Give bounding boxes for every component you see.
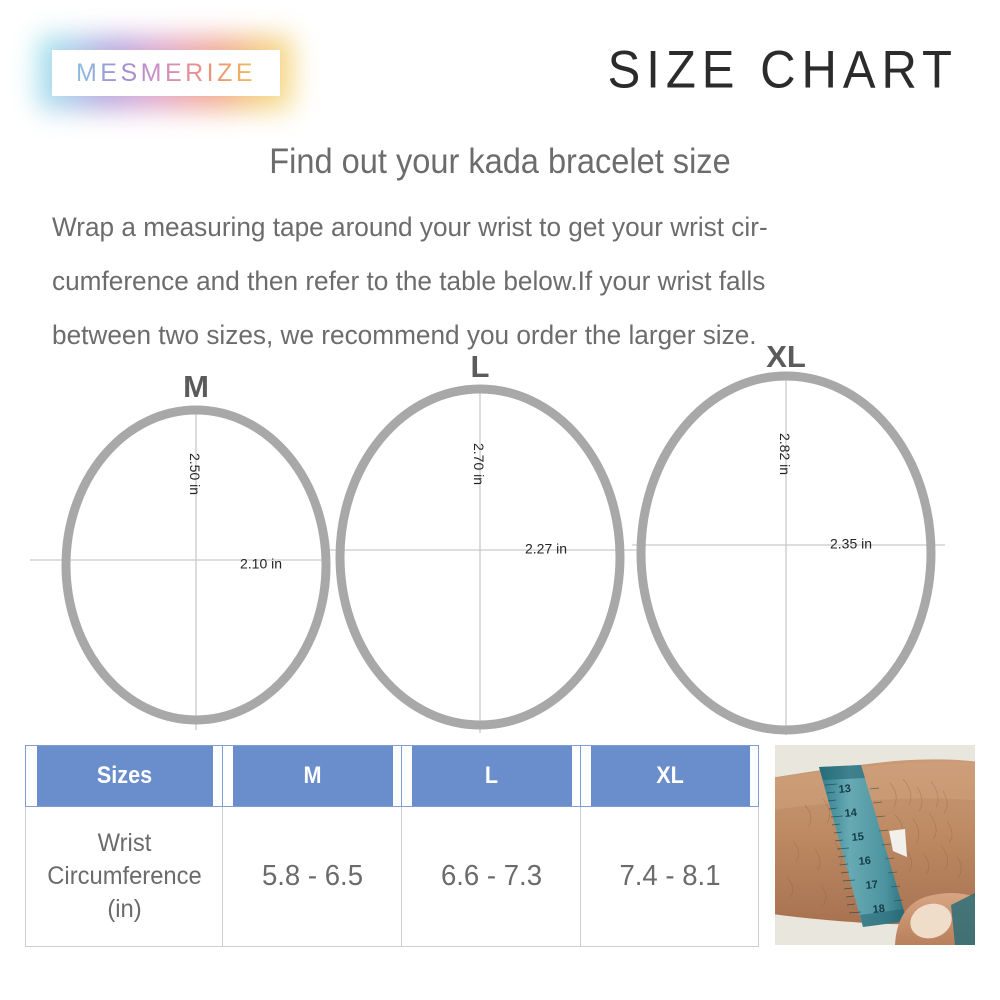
oval-m-width-label: 2.10 in xyxy=(240,556,282,572)
tape-mark-17: 17 xyxy=(865,879,878,892)
tape-edge-top xyxy=(819,765,865,780)
oval-l-height-label: 2.70 in xyxy=(471,443,487,485)
tape-mark-16: 16 xyxy=(858,855,871,868)
oval-group-m: M 2.50 in 2.10 in xyxy=(30,369,330,730)
tape-mark-13: 13 xyxy=(838,783,851,796)
oval-xl-size-label: XL xyxy=(766,345,806,374)
oval-xl-height-label: 2.82 in xyxy=(777,433,793,475)
section-heading: Find out your kada bracelet size xyxy=(35,142,965,182)
oval-m-height-label: 2.50 in xyxy=(187,453,203,495)
oval-group-xl: XL 2.82 in 2.35 in xyxy=(632,345,945,735)
table-header-m: M xyxy=(231,746,392,807)
table-header-row: Sizes M L XL xyxy=(26,746,759,807)
tape-mark-15: 15 xyxy=(851,831,864,844)
size-table: Sizes M L XL Wrist Circumference (in) 5.… xyxy=(25,745,759,947)
intro-line-1: Wrap a measuring tape around your wrist … xyxy=(52,200,925,254)
brand-logo: MESMERIZE xyxy=(46,44,286,102)
oval-xl-width-label: 2.35 in xyxy=(830,536,872,552)
tape-mark-18: 18 xyxy=(872,903,885,916)
table-row-label: Wrist Circumference (in) xyxy=(30,807,217,947)
table-header-sizes: Sizes xyxy=(35,746,212,807)
logo-box: MESMERIZE xyxy=(52,50,280,96)
logo-text: MESMERIZE xyxy=(52,50,280,96)
table-header-l: L xyxy=(410,746,571,807)
oval-group-l: L 2.70 in 2.27 in xyxy=(330,349,640,733)
row-label-line-2: Circumference xyxy=(32,860,216,893)
wrist-measurement-photo: 13 14 15 16 17 18 xyxy=(775,745,975,945)
row-label-line-1: Wrist xyxy=(32,827,216,860)
row-label-line-3: (in) xyxy=(32,893,216,926)
oval-m-size-label: M xyxy=(183,369,209,404)
intro-line-2: cumference and then refer to the table b… xyxy=(52,254,925,308)
tape-mark-14: 14 xyxy=(844,807,858,820)
oval-l-size-label: L xyxy=(471,349,490,384)
page-title: SIZE CHART xyxy=(608,40,958,100)
table-cell-l: 6.6 - 7.3 xyxy=(406,807,576,947)
table-header-xl: XL xyxy=(589,746,749,807)
oval-l-width-label: 2.27 in xyxy=(525,541,567,557)
oval-diagrams: M 2.50 in 2.10 in L 2.70 in 2.27 in XL 2… xyxy=(0,345,1000,745)
intro-paragraph: Wrap a measuring tape around your wrist … xyxy=(52,200,925,362)
table-row: Wrist Circumference (in) 5.8 - 6.5 6.6 -… xyxy=(26,807,759,947)
table-cell-xl: 7.4 - 8.1 xyxy=(585,807,754,947)
table-cell-m: 5.8 - 6.5 xyxy=(227,807,397,947)
